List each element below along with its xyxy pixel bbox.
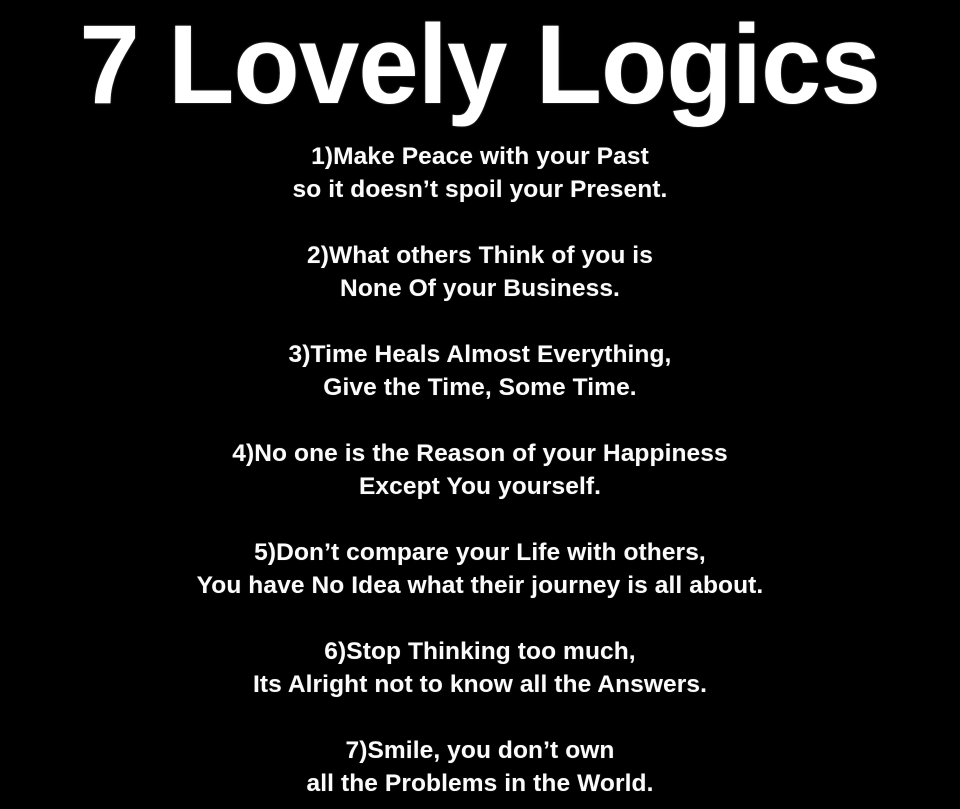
title-container: 7 Lovely Logics bbox=[0, 0, 960, 140]
list-item: 3)Time Heals Almost Everything, Give the… bbox=[0, 338, 960, 404]
logic-line-secondary: Its Alright not to know all the Answers. bbox=[0, 668, 960, 701]
quote-poster: 7 Lovely Logics 1)Make Peace with your P… bbox=[0, 0, 960, 809]
logics-list: 1)Make Peace with your Past so it doesn’… bbox=[0, 140, 960, 800]
list-item: 1)Make Peace with your Past so it doesn’… bbox=[0, 140, 960, 206]
logic-line-primary: 4)No one is the Reason of your Happiness bbox=[0, 437, 960, 470]
logic-line-primary: 6)Stop Thinking too much, bbox=[0, 635, 960, 668]
list-item: 4)No one is the Reason of your Happiness… bbox=[0, 437, 960, 503]
page-title: 7 Lovely Logics bbox=[80, 6, 881, 124]
logic-line-secondary: Except You yourself. bbox=[0, 470, 960, 503]
list-item: 6)Stop Thinking too much, Its Alright no… bbox=[0, 635, 960, 701]
list-item: 2)What others Think of you is None Of yo… bbox=[0, 239, 960, 305]
logic-line-secondary: Give the Time, Some Time. bbox=[0, 371, 960, 404]
logic-line-primary: 7)Smile, you don’t own bbox=[0, 734, 960, 767]
logic-line-secondary: None Of your Business. bbox=[0, 272, 960, 305]
logic-line-primary: 2)What others Think of you is bbox=[0, 239, 960, 272]
list-item: 5)Don’t compare your Life with others, Y… bbox=[0, 536, 960, 602]
logic-line-secondary: so it doesn’t spoil your Present. bbox=[0, 173, 960, 206]
logic-line-secondary: all the Problems in the World. bbox=[0, 767, 960, 800]
logic-line-primary: 3)Time Heals Almost Everything, bbox=[0, 338, 960, 371]
logic-line-primary: 1)Make Peace with your Past bbox=[0, 140, 960, 173]
logic-line-secondary: You have No Idea what their journey is a… bbox=[0, 569, 960, 602]
list-item: 7)Smile, you don’t own all the Problems … bbox=[0, 734, 960, 800]
logic-line-primary: 5)Don’t compare your Life with others, bbox=[0, 536, 960, 569]
